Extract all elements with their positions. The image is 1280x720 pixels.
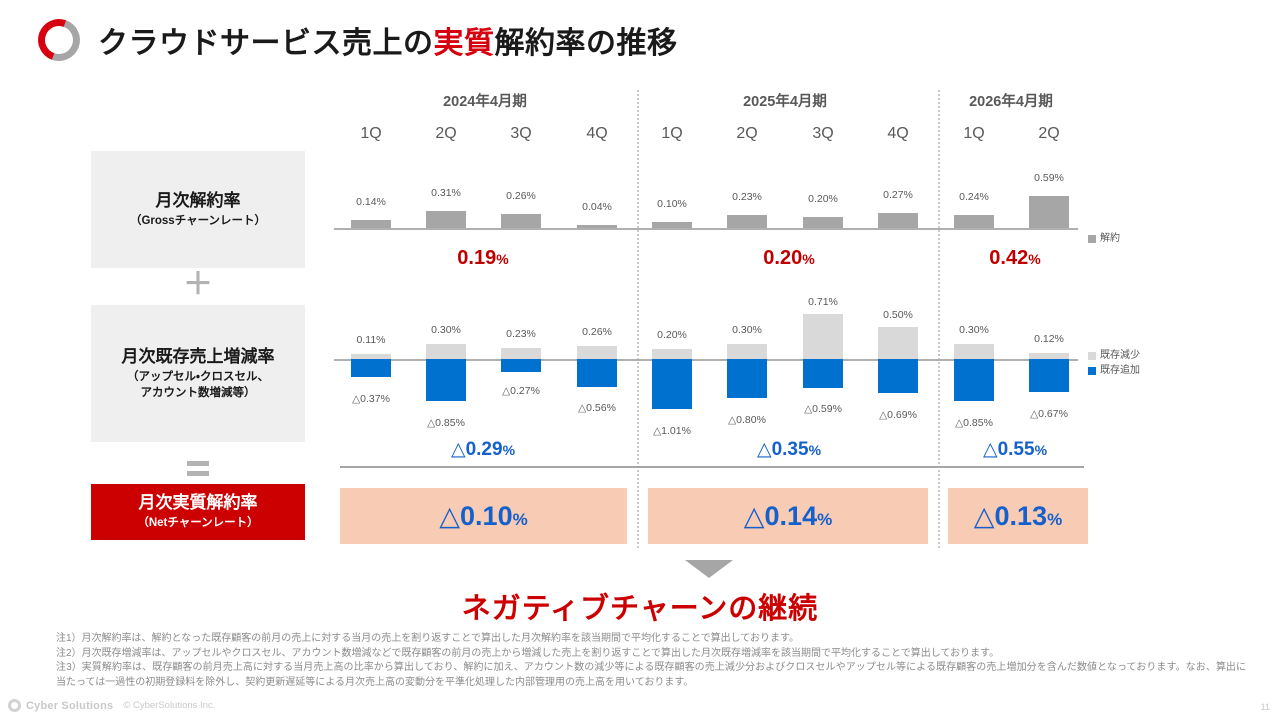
net-churn-2026: △0.13% xyxy=(974,501,1062,532)
net-churn-2026-value: △0.13 xyxy=(974,501,1047,531)
existing-average-2024-unit: % xyxy=(503,442,515,458)
fy-label-2025: 2025年4月期 xyxy=(700,90,870,111)
existing-bar-decrease xyxy=(577,346,617,359)
existing-bar-increase xyxy=(1029,359,1069,392)
existing-bar-top-label: 0.30% xyxy=(934,324,1014,336)
existing-average-2024: △0.29% xyxy=(398,438,568,461)
existing-bar-bottom-label: △0.27% xyxy=(481,385,561,397)
quarter-label-2026-1q: 1Q xyxy=(954,125,994,143)
existing-bar-top-label: 0.50% xyxy=(858,309,938,321)
gross-average-2024-unit: % xyxy=(496,251,508,267)
existing-bar-decrease xyxy=(652,349,692,359)
existing-bar-increase xyxy=(803,359,843,388)
existing-bar-top-label: 0.71% xyxy=(783,296,863,308)
gross-churn-axis xyxy=(334,228,1078,230)
gross-bar-label: 0.24% xyxy=(939,191,1009,203)
legend-label: 解約 xyxy=(1100,231,1120,246)
existing-bar-decrease xyxy=(426,344,466,359)
gross-average-2024-value: 0.19 xyxy=(457,247,496,269)
quarter-label-2025-4q: 4Q xyxy=(878,125,918,143)
gross-bar-label: 0.59% xyxy=(1014,172,1084,184)
gross-bar-2025-1q: 0.10% xyxy=(652,208,692,228)
footer-copyright: © CyberSolutions Inc. xyxy=(123,700,215,711)
section-rule xyxy=(340,466,1084,468)
equals-sign-icon xyxy=(187,461,209,476)
existing-average-2026: △0.55% xyxy=(930,438,1100,461)
quarter-label-2024-4q: 4Q xyxy=(577,125,617,143)
existing-average-2025-unit: % xyxy=(809,442,821,458)
quarter-label-2024-3q: 3Q xyxy=(501,125,541,143)
net-churn-2025-value: △0.14 xyxy=(744,501,817,531)
legend-existing-revenue: 既存減少 既存追加 xyxy=(1088,348,1140,378)
gross-bar-2024-3q: 0.26% xyxy=(501,208,541,228)
net-churn-2024-unit: % xyxy=(513,510,528,529)
existing-bar-bottom-label: △0.56% xyxy=(557,402,637,414)
quarter-label-2025-2q: 2Q xyxy=(727,125,767,143)
divider-2025-2026 xyxy=(938,90,940,548)
legend-item-kizon-gensho: 既存減少 xyxy=(1088,348,1140,363)
gross-bar-fill xyxy=(426,211,466,228)
cybersolutions-ring-logo-icon xyxy=(31,12,87,68)
quarter-label-2024-1q: 1Q xyxy=(351,125,391,143)
legend-swatch-icon xyxy=(1088,367,1096,375)
page-number: 11 xyxy=(1261,702,1270,712)
net-churn-2025: △0.14% xyxy=(744,501,832,532)
net-churn-box-2026: △0.13% xyxy=(948,488,1088,544)
gross-bar-2026-1q: 0.24% xyxy=(954,208,994,228)
gross-bar-label: 0.23% xyxy=(712,191,782,203)
net-churn-2024-value: △0.10 xyxy=(439,501,512,531)
legend-label: 既存減少 xyxy=(1100,348,1140,363)
existing-bar-bottom-label: △0.69% xyxy=(858,409,938,421)
side-label-existing-revenue-main: 月次既存売上増減率 xyxy=(122,346,275,367)
legend-swatch-icon xyxy=(1088,235,1096,243)
existing-bar-decrease xyxy=(954,344,994,359)
existing-bar-top-label: 0.20% xyxy=(632,329,712,341)
gross-average-2026-value: 0.42 xyxy=(989,247,1028,269)
slide-title: クラウドサービス売上の実質解約率の推移 xyxy=(38,18,678,62)
page-title: クラウドサービス売上の実質解約率の推移 xyxy=(98,18,678,62)
slide-root: クラウドサービス売上の実質解約率の推移 2024年4月期 2025年4月期 20… xyxy=(0,0,1280,720)
existing-bar-increase xyxy=(954,359,994,401)
footer-ring-logo-icon xyxy=(8,699,21,712)
side-label-net-churn-sub: （Netチャーンレート） xyxy=(137,516,258,532)
gross-bar-fill xyxy=(501,214,541,228)
existing-bar-increase xyxy=(501,359,541,372)
gross-bar-fill xyxy=(577,225,617,228)
legend-item-kaiyaku: 解約 xyxy=(1088,231,1120,246)
existing-bar-decrease xyxy=(878,327,918,359)
operator-plus: ＋ xyxy=(91,270,305,300)
gross-bar-label: 0.31% xyxy=(411,187,481,199)
existing-bar-bottom-label: △0.85% xyxy=(406,417,486,429)
existing-bar-decrease xyxy=(803,314,843,359)
gross-average-2026: 0.42% xyxy=(930,247,1100,270)
gross-bar-fill xyxy=(652,222,692,228)
existing-bar-decrease xyxy=(501,348,541,359)
fy-label-2026: 2026年4月期 xyxy=(926,90,1096,111)
gross-bar-label: 0.14% xyxy=(336,196,406,208)
existing-bar-bottom-label: △0.67% xyxy=(1009,408,1089,420)
gross-bar-2024-2q: 0.31% xyxy=(426,208,466,228)
footnote-3: 注3）実質解約率は、既存顧客の前月売上高に対する当月売上高の比率から算出しており… xyxy=(56,661,1246,690)
existing-bar-bottom-label: △0.37% xyxy=(331,393,411,405)
gross-bar-label: 0.27% xyxy=(863,189,933,201)
gross-bar-label: 0.20% xyxy=(788,193,858,205)
footnote-2: 注2）月次既存増減率は、アップセルやクロスセル、アカウント数増減などで既存顧客の… xyxy=(56,647,1246,662)
existing-bar-bottom-label: △0.59% xyxy=(783,403,863,415)
existing-average-2025: △0.35% xyxy=(704,438,874,461)
gross-average-2026-unit: % xyxy=(1028,251,1040,267)
existing-average-2026-value: △0.55 xyxy=(983,439,1035,460)
legend-label: 既存追加 xyxy=(1100,363,1140,378)
gross-bar-fill xyxy=(1029,196,1069,228)
quarter-label-2025-3q: 3Q xyxy=(803,125,843,143)
gross-bar-label: 0.04% xyxy=(562,201,632,213)
net-churn-2025-unit: % xyxy=(817,510,832,529)
gross-average-2025: 0.20% xyxy=(704,247,874,270)
existing-bar-bottom-label: △0.85% xyxy=(934,417,1014,429)
title-highlight: 実質 xyxy=(434,27,495,60)
legend-swatch-icon xyxy=(1088,352,1096,360)
existing-bar-increase xyxy=(878,359,918,393)
quarter-label-2026-2q: 2Q xyxy=(1029,125,1069,143)
existing-bar-increase xyxy=(351,359,391,377)
footnotes: 注1）月次解約率は、解約となった既存顧客の前月の売上に対する当月の売上を割り返す… xyxy=(56,632,1246,690)
gross-bar-fill xyxy=(954,215,994,228)
gross-bar-2024-1q: 0.14% xyxy=(351,208,391,228)
existing-average-2025-value: △0.35 xyxy=(757,439,809,460)
side-label-gross-churn: 月次解約率 （Grossチャーンレート） xyxy=(91,151,305,268)
existing-bar-top-label: 0.12% xyxy=(1009,333,1089,345)
existing-bar-top-label: 0.23% xyxy=(481,328,561,340)
side-label-gross-churn-main: 月次解約率 xyxy=(156,190,241,211)
side-label-gross-churn-sub: （Grossチャーンレート） xyxy=(130,214,266,230)
divider-2024-2025 xyxy=(637,90,639,548)
side-label-net-churn-main: 月次実質解約率 xyxy=(139,492,258,513)
gross-bar-2026-2q: 0.59% xyxy=(1029,208,1069,228)
gross-bar-2025-4q: 0.27% xyxy=(878,208,918,228)
gross-average-2025-unit: % xyxy=(802,251,814,267)
down-arrow-icon xyxy=(685,560,733,578)
gross-bar-label: 0.26% xyxy=(486,190,556,202)
gross-bar-label: 0.10% xyxy=(637,198,707,210)
gross-bar-fill xyxy=(803,217,843,228)
summary-message: ネガティブチャーンの継続 xyxy=(0,585,1280,627)
gross-bar-2025-2q: 0.23% xyxy=(727,208,767,228)
existing-bar-increase xyxy=(426,359,466,401)
net-churn-box-2024: △0.10% xyxy=(340,488,627,544)
net-churn-2026-unit: % xyxy=(1047,510,1062,529)
existing-bar-increase xyxy=(577,359,617,387)
existing-average-2026-unit: % xyxy=(1035,442,1047,458)
footer-brand: Cyber Solutions xyxy=(26,700,113,712)
gross-bar-2024-4q: 0.04% xyxy=(577,208,617,228)
existing-bar-top-label: 0.30% xyxy=(707,324,787,336)
legend-gross-churn: 解約 xyxy=(1088,231,1120,246)
footnote-1: 注1）月次解約率は、解約となった既存顧客の前月の売上に対する当月の売上を割り返す… xyxy=(56,632,1246,647)
side-label-existing-revenue: 月次既存売上増減率 （アップセル・クロスセル、 アカウント数増減等） xyxy=(91,305,305,442)
gross-average-2024: 0.19% xyxy=(398,247,568,270)
net-churn-2024: △0.10% xyxy=(439,501,527,532)
existing-bar-decrease xyxy=(727,344,767,359)
gross-bar-fill xyxy=(727,215,767,228)
legend-item-kizon-tsuika: 既存追加 xyxy=(1088,363,1140,378)
fy-label-2024: 2024年4月期 xyxy=(400,90,570,111)
gross-bar-fill xyxy=(878,213,918,228)
footer: Cyber Solutions © CyberSolutions Inc. xyxy=(8,699,215,712)
gross-bar-fill xyxy=(351,220,391,228)
title-pre: クラウドサービス売上の xyxy=(98,27,434,60)
quarter-label-2025-1q: 1Q xyxy=(652,125,692,143)
existing-bar-increase xyxy=(652,359,692,409)
existing-bar-bottom-label: △0.80% xyxy=(707,414,787,426)
quarter-label-2024-2q: 2Q xyxy=(426,125,466,143)
existing-bar-top-label: 0.26% xyxy=(557,326,637,338)
gross-average-2025-value: 0.20 xyxy=(763,247,802,269)
title-post: 解約率の推移 xyxy=(495,27,678,60)
existing-bar-top-label: 0.30% xyxy=(406,324,486,336)
operator-equals xyxy=(91,452,305,482)
side-label-net-churn: 月次実質解約率 （Netチャーンレート） xyxy=(91,484,305,540)
existing-bar-increase xyxy=(727,359,767,398)
gross-bar-2025-3q: 0.20% xyxy=(803,208,843,228)
existing-bar-bottom-label: △1.01% xyxy=(632,425,712,437)
side-label-existing-revenue-sub: （アップセル・クロスセル、 アカウント数増減等） xyxy=(127,370,269,401)
net-churn-box-2025: △0.14% xyxy=(648,488,928,544)
existing-average-2024-value: △0.29 xyxy=(451,439,503,460)
existing-bar-top-label: 0.11% xyxy=(331,334,411,346)
